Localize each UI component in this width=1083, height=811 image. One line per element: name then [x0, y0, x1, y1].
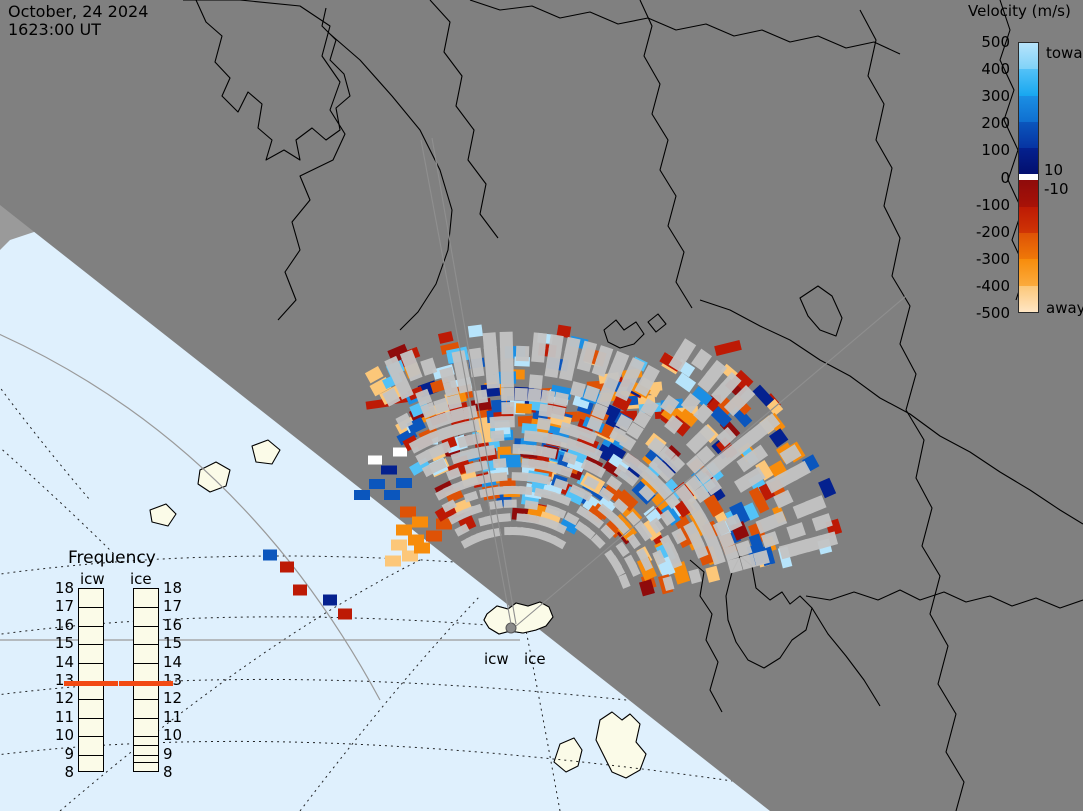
colorbar-band: [1019, 43, 1038, 69]
velocity-cell: [338, 609, 352, 620]
timestamp-block: October, 24 20241623:00 UT: [8, 3, 148, 39]
ground-scatter-cell: [501, 388, 514, 401]
timestamp-time: 1623:00 UT: [8, 20, 101, 39]
radar-site-marker: [506, 623, 516, 633]
frequency-bar-gridline: [134, 607, 158, 608]
velocity-cell: [396, 525, 412, 536]
frequency-marker-icw: [64, 681, 118, 686]
ground-scatter-cell: [486, 374, 500, 389]
colorbar-toward-label: toward: [1046, 44, 1083, 62]
ground-scatter-cell: [500, 332, 513, 348]
frequency-bar-label-icw: icw: [80, 570, 105, 588]
frequency-bar-gridline: [79, 607, 103, 608]
velocity-cell: [354, 490, 370, 500]
velocity-cell: [414, 543, 430, 554]
frequency-bar-gridline: [79, 663, 103, 664]
frequency-tick-right: 12: [163, 689, 185, 707]
ground-scatter-cell: [494, 472, 508, 481]
ground-scatter-cell: [554, 392, 569, 407]
colorbar-tick: 500: [964, 33, 1010, 51]
frequency-tick-right: 9: [163, 745, 185, 763]
ground-scatter-cell: [481, 445, 495, 457]
colorbar-band: [1019, 286, 1038, 312]
frequency-tick-left: 11: [52, 708, 74, 726]
ground-scatter-cell: [489, 416, 503, 428]
ground-scatter-cell: [519, 486, 533, 495]
colorbar-band: [1019, 69, 1038, 95]
frequency-tick-right: 10: [163, 726, 185, 744]
frequency-bar-gridline: [134, 736, 158, 737]
colorbar-zero-lower-label: -10: [1044, 180, 1069, 198]
ground-scatter-cell: [500, 360, 513, 375]
frequency-bar-gridline: [79, 644, 103, 645]
frequency-tick-left: 15: [52, 634, 74, 652]
frequency-tick-left: 18: [52, 579, 74, 597]
frequency-tick-left: 16: [52, 616, 74, 634]
colorbar-tick: 0: [964, 169, 1010, 187]
colorbar-zero-upper-label: 10: [1044, 161, 1063, 179]
velocity-cell: [263, 550, 277, 561]
frequency-bar-gridline: [134, 626, 158, 627]
colorbar-band: [1019, 259, 1038, 285]
colorbar-tick: -400: [964, 277, 1010, 295]
map-site-label-ice: ice: [524, 650, 546, 668]
velocity-cell: [381, 466, 397, 475]
frequency-tick-left: 14: [52, 653, 74, 671]
ground-scatter-cell: [504, 500, 517, 508]
map-site-label-icw: icw: [484, 650, 509, 668]
frequency-tick-left: 9: [52, 745, 74, 763]
timestamp-date: October, 24 2024: [8, 2, 148, 21]
colorbar-tick: -100: [964, 196, 1010, 214]
ground-scatter-cell: [457, 378, 472, 394]
ground-scatter-cell: [501, 402, 514, 414]
velocity-cell: [384, 490, 400, 500]
velocity-cell: [412, 517, 428, 528]
velocity-cell: [280, 562, 294, 573]
velocity-cell: [396, 478, 412, 488]
frequency-tick-right: 16: [163, 616, 185, 634]
velocity-cell: [369, 479, 385, 489]
velocity-cell: [293, 585, 307, 596]
frequency-bar-gridline: [134, 755, 158, 756]
ground-scatter-cell: [497, 513, 511, 522]
colorbar-band: [1019, 180, 1038, 206]
frequency-tick-left: 17: [52, 597, 74, 615]
ground-scatter-cell: [548, 334, 563, 352]
frequency-bar-gridline: [79, 755, 103, 756]
velocity-colorbar: [1018, 42, 1039, 313]
velocity-cell: [368, 456, 382, 465]
frequency-bar-gridline: [134, 699, 158, 700]
fan-plot-canvas: October, 24 20241623:00 UT Velocity (m/s…: [0, 0, 1083, 811]
frequency-bar-gridline: [134, 745, 158, 746]
colorbar-tick: 300: [964, 87, 1010, 105]
colorbar-tick: 400: [964, 60, 1010, 78]
velocity-cell: [400, 507, 416, 518]
frequency-marker-ice: [119, 681, 173, 686]
ground-scatter-cell: [538, 404, 553, 418]
colorbar-tick: -300: [964, 250, 1010, 268]
ground-scatter-cell: [502, 416, 515, 428]
colorbar-band: [1019, 96, 1038, 122]
frequency-tick-left: 12: [52, 689, 74, 707]
velocity-cell: [516, 403, 532, 414]
frequency-bar-gridline: [134, 644, 158, 645]
ground-scatter-cell: [527, 388, 541, 402]
frequency-legend-title: Frequency: [68, 549, 156, 568]
velocity-cell: [323, 595, 337, 606]
frequency-bar-label-ice: ice: [130, 570, 152, 588]
ground-scatter-cell: [529, 374, 543, 389]
frequency-bar-gridline: [79, 736, 103, 737]
velocity-cell: [468, 324, 483, 337]
frequency-bar-gridline: [79, 626, 103, 627]
frequency-tick-right: 11: [163, 708, 185, 726]
colorbar-tick: -200: [964, 223, 1010, 241]
frequency-tick-left: 10: [52, 726, 74, 744]
velocity-cell: [393, 448, 407, 457]
frequency-tick-left: 8: [52, 763, 74, 781]
colorbar-tick: 100: [964, 141, 1010, 159]
velocity-cell: [426, 531, 442, 542]
ground-scatter-cell: [537, 417, 552, 430]
ground-scatter-cell: [532, 332, 546, 349]
colorbar-band: [1019, 207, 1038, 233]
colorbar-title: Velocity (m/s): [968, 3, 1071, 20]
frequency-tick-right: 18: [163, 579, 185, 597]
colorbar-band: [1019, 233, 1038, 259]
ground-scatter-cell: [501, 374, 514, 388]
frequency-bar-gridline: [79, 718, 103, 719]
velocity-cell: [385, 556, 401, 567]
ground-scatter-cell: [514, 388, 527, 401]
ground-scatter-cell: [483, 332, 497, 349]
frequency-tick-right: 17: [163, 597, 185, 615]
frequency-bar-gridline: [134, 718, 158, 719]
frequency-tick-right: 14: [163, 653, 185, 671]
ground-scatter-cell: [493, 458, 507, 468]
colorbar-away-label: away: [1046, 299, 1083, 317]
frequency-tick-right: 8: [163, 763, 185, 781]
ground-scatter-cell: [491, 430, 505, 442]
frequency-bar-gridline: [134, 663, 158, 664]
ground-scatter-cell: [541, 390, 556, 405]
ground-scatter-cell: [516, 346, 530, 362]
ground-scatter-cell: [485, 360, 499, 375]
colorbar-band: [1019, 148, 1038, 174]
colorbar-tick: -500: [964, 304, 1010, 322]
velocity-cell: [391, 540, 407, 551]
frequency-bar-gridline: [79, 699, 103, 700]
colorbar-tick: 200: [964, 114, 1010, 132]
frequency-bar-gridline: [134, 762, 158, 763]
frequency-tick-right: 15: [163, 634, 185, 652]
colorbar-band: [1019, 122, 1038, 148]
ground-scatter-cell: [500, 346, 513, 361]
